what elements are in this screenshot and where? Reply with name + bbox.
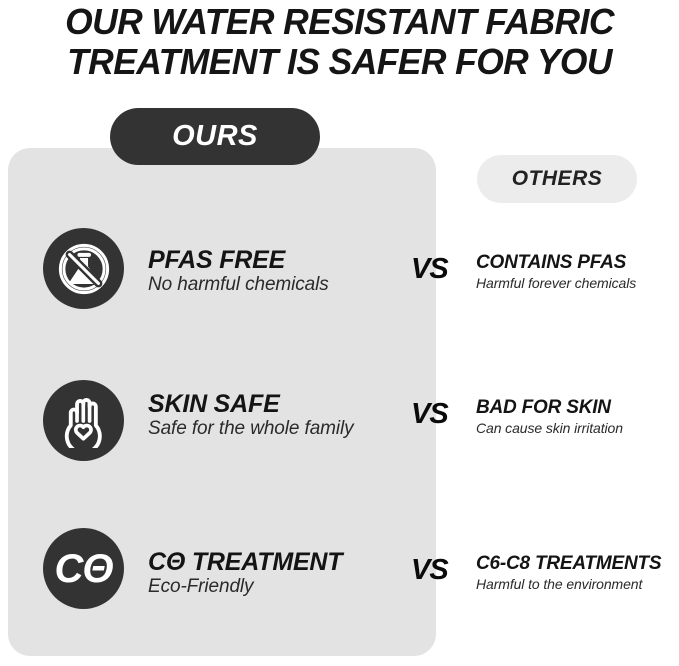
page-title-line-1: OUR WATER RESISTANT FABRIC: [5, 2, 674, 42]
ours-feature-text: CΘ TREATMENT Eco-Friendly: [148, 548, 408, 598]
others-feature-text: C6-C8 TREATMENTS Harmful to the environm…: [476, 553, 679, 593]
ours-feature-title: PFAS FREE: [148, 246, 408, 274]
ours-feature-title: SKIN SAFE: [148, 390, 408, 418]
others-feature-subtitle: Harmful to the environment: [476, 575, 679, 593]
versus-label: VS: [411, 554, 448, 587]
versus-label: VS: [411, 398, 448, 431]
comparison-row: SKIN SAFE Safe for the whole family VS B…: [0, 370, 679, 470]
ours-badge: OURS: [110, 108, 320, 165]
ours-feature-subtitle: No harmful chemicals: [148, 274, 408, 296]
c-zero-icon: CΘ: [43, 528, 124, 609]
ours-feature-text: PFAS FREE No harmful chemicals: [148, 246, 408, 296]
ours-feature-text: SKIN SAFE Safe for the whole family: [148, 390, 408, 440]
others-badge: OTHERS: [477, 155, 637, 203]
others-feature-text: BAD FOR SKIN Can cause skin irritation: [476, 397, 679, 437]
page-title: OUR WATER RESISTANT FABRIC TREATMENT IS …: [5, 2, 674, 82]
others-feature-title: C6-C8 TREATMENTS: [476, 553, 679, 575]
hand-heart-icon: [43, 380, 124, 461]
ours-feature-title: CΘ TREATMENT: [148, 548, 408, 576]
others-feature-subtitle: Can cause skin irritation: [476, 419, 679, 437]
page-title-line-2: TREATMENT IS SAFER FOR YOU: [5, 42, 674, 82]
others-feature-subtitle: Harmful forever chemicals: [476, 274, 679, 292]
comparison-row: PFAS FREE No harmful chemicals VS CONTAI…: [0, 228, 679, 328]
comparison-row: CΘ CΘ TREATMENT Eco-Friendly VS C6-C8 TR…: [0, 518, 679, 618]
c-zero-icon-label: CΘ: [55, 549, 113, 589]
no-chemicals-flask-icon: [43, 228, 124, 309]
others-feature-title: CONTAINS PFAS: [476, 252, 679, 274]
versus-label: VS: [411, 253, 448, 286]
ours-feature-subtitle: Eco-Friendly: [148, 576, 408, 598]
others-badge-label: OTHERS: [512, 167, 603, 191]
ours-badge-label: OURS: [172, 120, 258, 153]
ours-feature-subtitle: Safe for the whole family: [148, 418, 408, 440]
others-feature-title: BAD FOR SKIN: [476, 397, 679, 419]
others-feature-text: CONTAINS PFAS Harmful forever chemicals: [476, 252, 679, 292]
